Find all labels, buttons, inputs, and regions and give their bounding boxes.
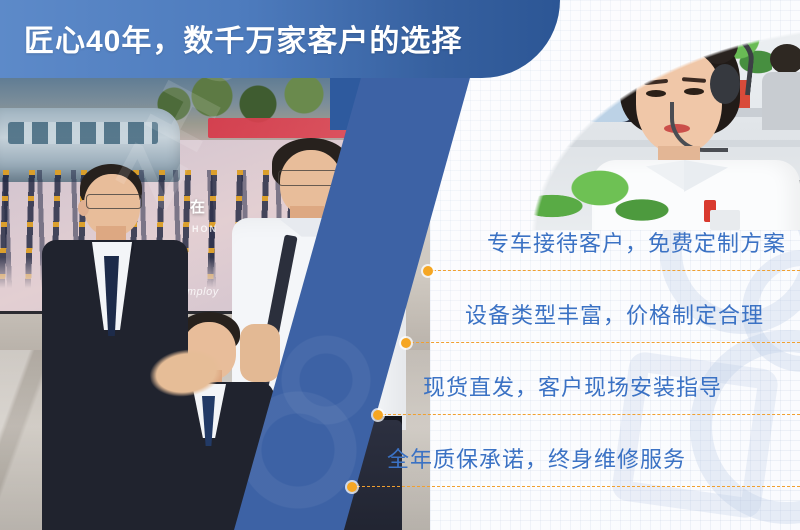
bullet-dot-icon — [401, 338, 411, 348]
page-title: 匠心40年，数千万家客户的选择 — [24, 16, 462, 60]
headset-earcup-icon — [710, 64, 740, 104]
divider — [428, 270, 800, 271]
divider — [352, 486, 800, 487]
divider — [406, 342, 800, 343]
screen-zai-text: 在 — [190, 196, 205, 217]
list-item[interactable]: 全年质保承诺，终身维修服务 — [330, 428, 800, 500]
feature-label: 设备类型丰富，价格制定合理 — [465, 298, 764, 330]
bullet-dot-icon — [423, 266, 433, 276]
list-item[interactable]: 专车接待客户，免费定制方案 — [330, 212, 800, 284]
bullet-dot-icon — [373, 410, 383, 420]
list-item[interactable]: 现货直发，客户现场安装指导 — [330, 356, 800, 428]
feature-label: 现货直发，客户现场安装指导 — [423, 370, 722, 402]
header-bar: 匠心40年，数千万家客户的选择 — [0, 0, 560, 78]
glasses-icon — [86, 194, 142, 209]
screen-latin-text: HON — [192, 224, 218, 234]
person-dark-suit — [32, 164, 192, 530]
feature-list: 专车接待客户，免费定制方案 设备类型丰富，价格制定合理 现货直发，客户现场安装指… — [330, 212, 800, 530]
feature-label: 全年质保承诺，终身维修服务 — [387, 442, 686, 474]
glasses-icon — [278, 170, 338, 186]
promo-banner: 2300余人 在 HON the online employ — [0, 0, 800, 530]
bullet-dot-icon — [347, 482, 357, 492]
feature-label: 专车接待客户，免费定制方案 — [487, 226, 786, 258]
divider — [378, 414, 800, 415]
list-item[interactable]: 设备类型丰富，价格制定合理 — [330, 284, 800, 356]
eye — [646, 90, 666, 97]
